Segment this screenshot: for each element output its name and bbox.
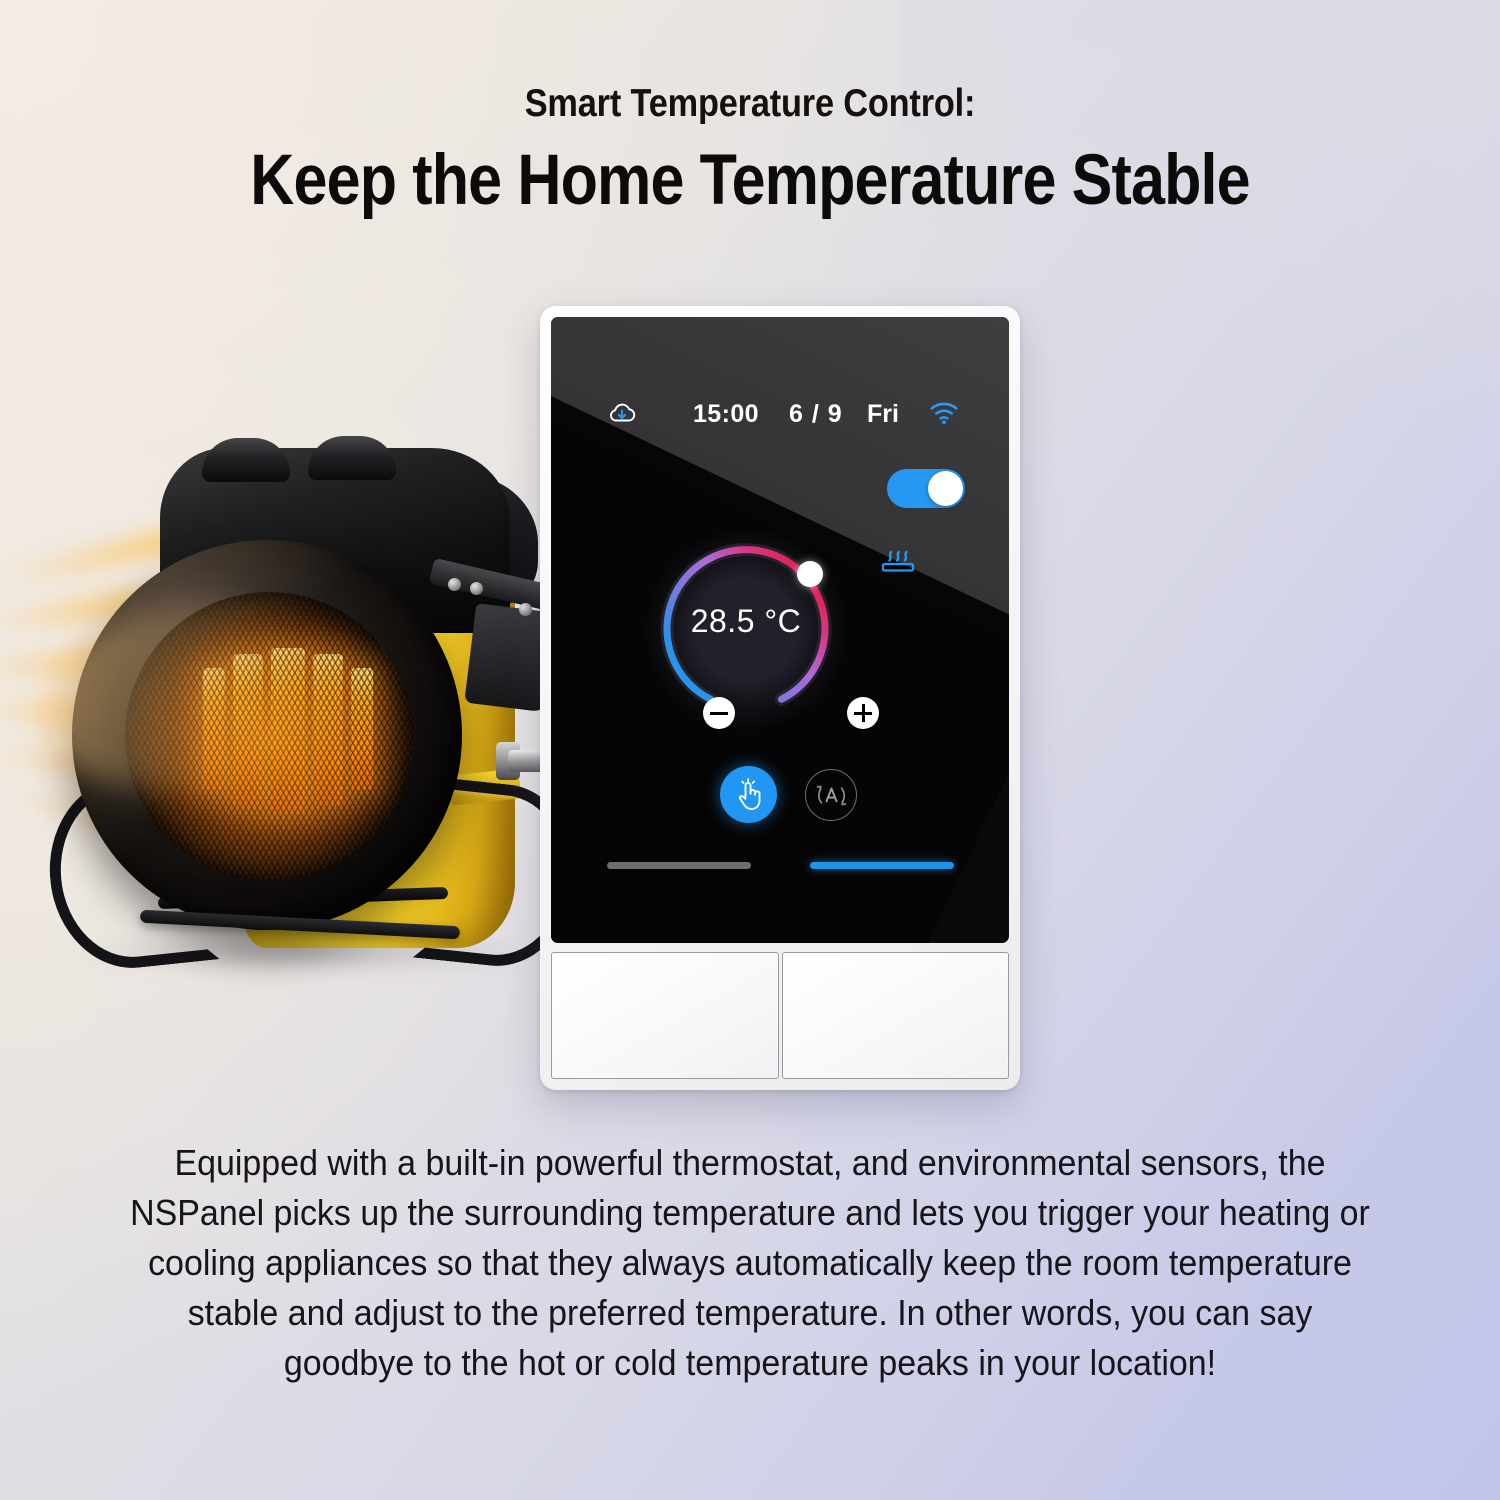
heat-mode-icon[interactable] xyxy=(876,539,920,575)
power-toggle-knob xyxy=(928,471,963,506)
nspanel-device: 15:00 6 / 9 Fri xyxy=(540,306,1020,1090)
channel-bar-right[interactable] xyxy=(810,862,954,869)
status-date: 6 / 9 xyxy=(789,400,843,429)
bracket-screw-2 xyxy=(470,582,483,595)
industrial-fan-heater-image xyxy=(30,420,600,1060)
physical-button-left[interactable] xyxy=(551,952,779,1079)
temperature-value: 28.5 °C xyxy=(655,603,837,640)
physical-button-right[interactable] xyxy=(782,952,1010,1079)
bracket-screw-1 xyxy=(448,578,461,591)
power-toggle[interactable] xyxy=(887,469,965,508)
heater-control-knob-left xyxy=(202,438,290,482)
page-title: Keep the Home Temperature Stable xyxy=(105,140,1395,221)
auto-a-icon xyxy=(815,779,848,812)
status-weekday: Fri xyxy=(867,400,899,429)
page-subtitle: Smart Temperature Control: xyxy=(90,82,1410,126)
physical-button-row xyxy=(551,952,1009,1079)
bracket-screw-3 xyxy=(519,603,532,616)
plus-icon-vertical xyxy=(862,704,865,722)
minus-icon xyxy=(710,712,728,715)
status-bar: 15:00 6 / 9 Fri xyxy=(551,395,1009,437)
heater-control-knob-right xyxy=(308,436,396,480)
channel-bar-left[interactable] xyxy=(607,862,751,869)
dial-handle[interactable] xyxy=(797,561,823,587)
cloud-download-icon xyxy=(607,401,637,427)
wifi-icon xyxy=(929,401,959,425)
description-paragraph: Equipped with a built-in powerful thermo… xyxy=(122,1138,1378,1388)
auto-mode-button[interactable] xyxy=(805,769,857,821)
status-time: 15:00 xyxy=(693,400,759,429)
temperature-increase-button[interactable] xyxy=(847,697,879,729)
hand-tap-icon xyxy=(734,778,764,811)
temperature-decrease-button[interactable] xyxy=(703,697,735,729)
nspanel-touchscreen[interactable]: 15:00 6 / 9 Fri xyxy=(551,317,1009,943)
manual-mode-button[interactable] xyxy=(720,766,777,823)
temperature-dial[interactable]: 28.5 °C xyxy=(655,539,837,721)
